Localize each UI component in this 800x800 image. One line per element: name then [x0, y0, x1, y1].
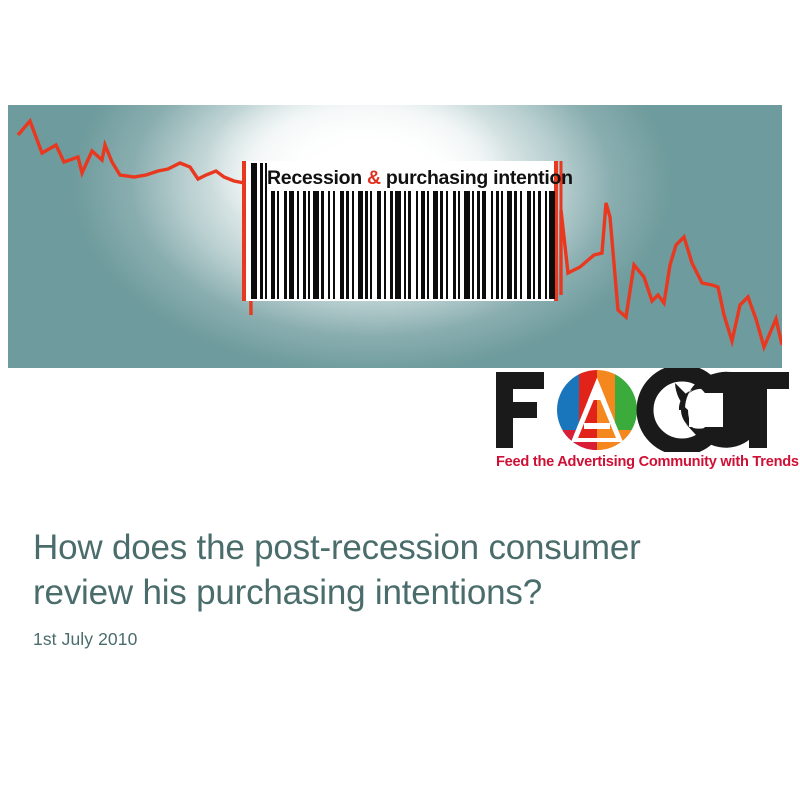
barcode-bar [446, 191, 448, 299]
barcode-panel: Recession & purchasing intention [245, 161, 555, 301]
barcode-bar [404, 191, 406, 299]
slide-root: Recession & purchasing intention [0, 0, 800, 800]
fact-logo: Feed the Advertising Community with Tren… [492, 368, 792, 480]
trend-line-left [18, 121, 251, 315]
barcode-title: Recession & purchasing intention [267, 165, 535, 191]
barcode-bar [433, 191, 438, 299]
barcode-bar [458, 191, 460, 299]
barcode-bar [538, 191, 541, 299]
barcode-bar [408, 191, 411, 299]
barcode-bar [395, 191, 401, 299]
page-title-line-2: review his purchasing intentions? [33, 570, 753, 615]
page-title: How does the post-recession consumer rev… [33, 525, 753, 615]
fact-logo-tagline: Feed the Advertising Community with Tren… [496, 454, 792, 470]
barcode-bar [284, 191, 287, 299]
barcode-title-ampersand: & [367, 167, 381, 189]
barcode-bar [297, 191, 299, 299]
barcode-title-prefix: Recession [267, 167, 367, 189]
barcode-bar [346, 191, 349, 299]
barcode-bar [333, 191, 335, 299]
barcode-bar [328, 191, 330, 299]
barcode-bar [533, 191, 535, 299]
barcode-bar [377, 191, 381, 299]
barcode-bar [260, 163, 263, 299]
banner-image: Recession & purchasing intention [8, 105, 782, 368]
barcode-bar [514, 191, 517, 299]
barcode-bar [303, 191, 306, 299]
barcode-bar [507, 191, 512, 299]
barcode-bar [277, 191, 279, 299]
barcode-bar [358, 191, 363, 299]
barcode-bar [491, 191, 493, 299]
barcode-bar [472, 191, 474, 299]
barcode-bar [453, 191, 456, 299]
barcode-title-suffix: purchasing intention [381, 167, 573, 189]
barcode-bar [370, 191, 372, 299]
barcode-bar [545, 191, 547, 299]
barcode-left-accent [242, 161, 246, 301]
page-title-line-1: How does the post-recession consumer [33, 525, 753, 570]
barcode-bar [352, 191, 354, 299]
barcode-bar [477, 191, 480, 299]
barcode-bar [313, 191, 319, 299]
barcode-bar [527, 191, 531, 299]
barcode-bar [265, 163, 267, 299]
barcode-bar [384, 191, 386, 299]
barcode-bar [340, 191, 344, 299]
trend-line-right [561, 203, 782, 347]
barcode-bar [365, 191, 368, 299]
page-date: 1st July 2010 [33, 629, 137, 650]
barcode-bar [440, 191, 443, 299]
barcode-bar [520, 191, 522, 299]
barcode-bar [501, 191, 503, 299]
logo-letter-f [496, 372, 544, 448]
barcode-bar [390, 191, 393, 299]
barcode-bar [464, 191, 470, 299]
barcode-bars [249, 191, 551, 299]
barcode-bar [251, 163, 257, 299]
barcode-bar [482, 191, 486, 299]
barcode-bar [427, 191, 429, 299]
logo-letter-a-disc [557, 370, 637, 450]
barcode-bar [416, 191, 418, 299]
barcode-bar [549, 191, 555, 299]
fact-logo-mark [492, 368, 792, 452]
barcode-bar [321, 191, 324, 299]
barcode-bar [289, 191, 294, 299]
barcode-bar [308, 191, 310, 299]
barcode-bar [496, 191, 499, 299]
barcode-bar [421, 191, 425, 299]
barcode-bar [271, 191, 275, 299]
